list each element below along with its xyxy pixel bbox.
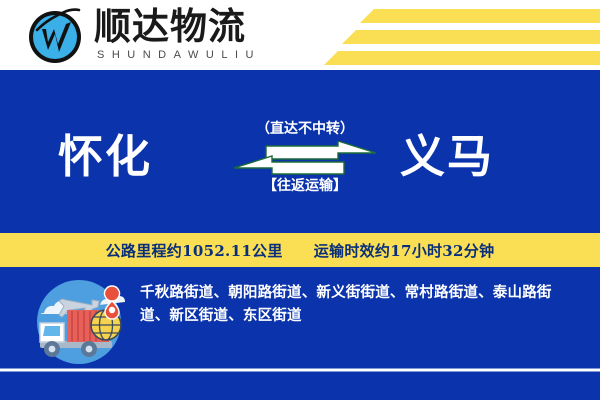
route-center-block: （直达不中转） 【往返运输】 — [230, 120, 380, 195]
destination-city: 义马 — [400, 134, 494, 179]
bidirectional-arrow-icon — [230, 141, 380, 175]
distance-label: 公路里程约1052.11公里 — [106, 242, 283, 260]
duration-label: 运输时效约17小时32分钟 — [314, 242, 495, 260]
return-transport-note: 【往返运输】 — [230, 177, 380, 195]
header-stripe-1 — [360, 9, 600, 23]
banner-header: 顺达物流 SHUNDAWULIU — [0, 0, 600, 70]
logistics-route-banner: 顺达物流 SHUNDAWULIU 怀化 （直达不中转） 【往返运输】 — [0, 0, 600, 400]
header-stripes — [270, 0, 600, 70]
logistics-truck-plane-globe-icon — [26, 279, 132, 365]
stats-line: 公路里程约1052.11公里 运输时效约17小时32分钟 — [106, 240, 495, 261]
coverage-section: 千秋路街道、朝阳路街道、新义街街道、常村路街道、泰山路街道、新区街道、东区街道 — [0, 267, 600, 400]
header-stripe-3 — [324, 51, 600, 65]
covered-streets-list: 千秋路街道、朝阳路街道、新义街街道、常村路街道、泰山路街道、新区街道、东区街道 — [140, 281, 570, 327]
circle-swoosh-logo-icon — [24, 4, 86, 66]
route-section: 怀化 （直达不中转） 【往返运输】 义马 — [0, 72, 600, 231]
stats-bar: 公路里程约1052.11公里 运输时效约17小时32分钟 — [0, 233, 600, 267]
brand-logo: 顺达物流 SHUNDAWULIU — [24, 4, 261, 66]
bottom-divider — [0, 368, 600, 372]
brand-name-cn: 顺达物流 — [94, 4, 261, 48]
direct-shipping-note: （直达不中转） — [230, 120, 380, 138]
brand-name-en: SHUNDAWULIU — [94, 48, 261, 62]
header-stripe-2 — [342, 30, 600, 44]
origin-city: 怀化 — [58, 134, 152, 179]
brand-text-block: 顺达物流 SHUNDAWULIU — [94, 4, 261, 62]
